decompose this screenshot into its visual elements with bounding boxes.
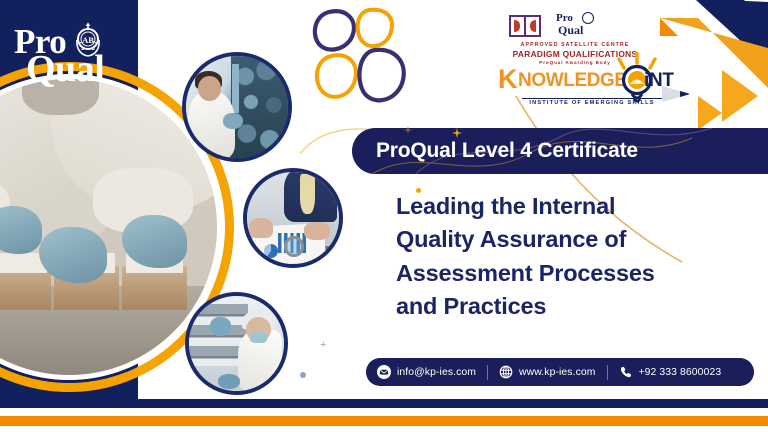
proqual-logo: Pro Qual AB (12, 18, 132, 102)
star-sparkle-decoration (452, 128, 462, 138)
headline-line-2: Quality Assurance of (396, 223, 768, 256)
knowledge-point-lockup: Pro Qual APPROVED SATELLITE CENTRE PARAD… (492, 12, 688, 116)
proqual-mini-qual: Qual (558, 23, 583, 38)
banner-canvas: Pro Qual AB (0, 0, 768, 432)
headline-block: Leading the Internal Quality Assurance o… (396, 190, 768, 323)
proqual-mini-seal-icon (582, 12, 594, 24)
knowledge-remainder: NOWLEDGE (518, 70, 627, 92)
contact-website[interactable]: www.kp-ies.com (488, 365, 606, 379)
globe-icon (499, 365, 513, 379)
knowledge-k-letter: K (498, 64, 518, 95)
contact-bar[interactable]: info@kp-ies.com www.kp-ies.com +92 333 8… (366, 358, 754, 386)
blue-dot-decoration (300, 372, 306, 378)
contact-website-text: www.kp-ies.com (519, 367, 595, 378)
headline-line-3: Assessment Processes (396, 257, 768, 290)
approved-centre-line: APPROVED SATELLITE CENTRE (500, 42, 650, 48)
orange-dot-decoration (416, 188, 421, 193)
contact-phone[interactable]: +92 333 8600023 (608, 365, 733, 379)
contact-email-text: info@kp-ies.com (397, 367, 476, 378)
bottom-orange-stripe (0, 416, 768, 426)
star-sparkle-small-decoration (404, 126, 412, 134)
contact-phone-text: +92 333 8600023 (639, 367, 722, 378)
svg-text:AB: AB (82, 35, 94, 45)
institute-tagline: INSTITUTE OF EMERGING SKILLS (522, 100, 662, 106)
contact-email[interactable]: info@kp-ies.com (366, 365, 487, 379)
plus-sparkle-decoration: + (320, 340, 326, 351)
course-title-text: ProQual Level 4 Certificate (376, 139, 638, 163)
open-book-icon (508, 14, 542, 38)
ab-seal-icon: AB (68, 20, 108, 60)
email-icon (377, 365, 391, 379)
course-title-pill: ProQual Level 4 Certificate (352, 128, 768, 174)
headline-line-4: and Practices (396, 290, 768, 323)
lockup-divider (522, 98, 664, 99)
inset-photo-lab-technician (182, 52, 292, 162)
pencil-icon (660, 82, 690, 104)
phone-icon (619, 365, 633, 379)
knowledge-point-wordmark: K NOWLEDGE iNT (492, 62, 688, 102)
inset-photo-charts-review (243, 168, 343, 268)
inset-photo-lab-worker-shelving (185, 292, 288, 395)
proqual-mini-logo: Pro Qual (556, 12, 608, 38)
headline-line-1: Leading the Internal (396, 190, 768, 223)
bottom-navy-stripe (0, 399, 768, 408)
